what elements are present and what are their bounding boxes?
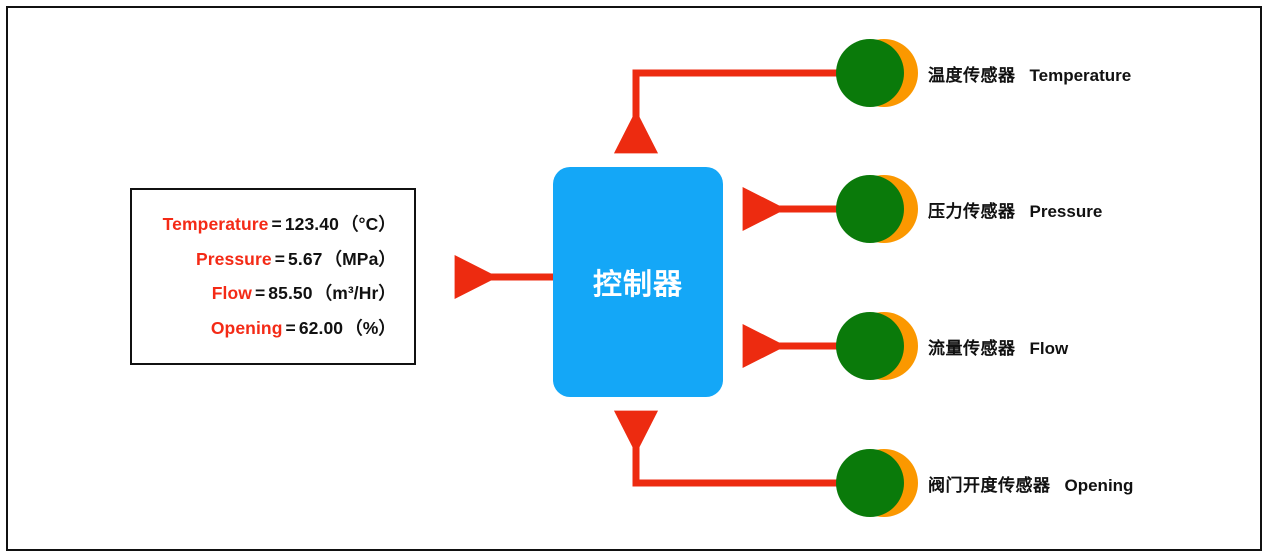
sensor-flow-label-cn: 流量传感器: [928, 334, 1016, 359]
controller-node[interactable]: 控制器: [553, 167, 723, 397]
sensor-disc-icon: [836, 447, 916, 519]
sensor-pressure-label-cn: 压力传感器: [928, 197, 1016, 222]
sensor-flow-label-en: Flow: [1030, 339, 1069, 359]
readout-panel: Temperature=123.40（°C） Pressure=5.67（MPa…: [130, 188, 416, 365]
readout-row-flow: Flow=85.50（m³/Hr）: [212, 285, 396, 303]
sensor-temperature[interactable]: 温度传感器 Temperature: [836, 37, 1131, 109]
readout-eq-pressure: =: [275, 249, 285, 269]
readout-unit-pressure: （MPa）: [325, 249, 396, 269]
controller-label: 控制器: [593, 261, 683, 303]
wire-opening: [636, 412, 845, 483]
sensor-pressure-label-en: Pressure: [1030, 202, 1103, 222]
readout-row-pressure: Pressure=5.67（MPa）: [196, 251, 396, 269]
sensor-opening-label: 阀门开度传感器 Opening: [928, 471, 1133, 496]
readout-unit-flow: （m³/Hr）: [315, 283, 396, 303]
sensor-flow-label: 流量传感器 Flow: [928, 334, 1068, 359]
readout-row-temperature: Temperature=123.40（°C）: [163, 216, 396, 234]
sensor-disc-icon: [836, 310, 916, 382]
sensor-opening-label-en: Opening: [1065, 476, 1134, 496]
sensor-opening-label-cn: 阀门开度传感器: [928, 471, 1051, 496]
readout-eq-temperature: =: [271, 214, 281, 234]
readout-value-temperature: 123.40: [285, 214, 339, 234]
sensor-flow[interactable]: 流量传感器 Flow: [836, 310, 1068, 382]
diagram-canvas: Temperature=123.40（°C） Pressure=5.67（MPa…: [0, 0, 1268, 557]
sensor-pressure-label: 压力传感器 Pressure: [928, 197, 1102, 222]
readout-eq-opening: =: [286, 318, 296, 338]
readout-unit-temperature: （°C）: [341, 214, 396, 234]
readout-label-flow: Flow: [212, 283, 252, 303]
readout-value-flow: 85.50: [268, 283, 312, 303]
sensor-disc-icon: [836, 173, 916, 245]
readout-row-opening: Opening=62.00（%）: [211, 320, 396, 338]
sensor-disc-icon: [836, 37, 916, 109]
readout-label-temperature: Temperature: [163, 214, 269, 234]
readout-label-opening: Opening: [211, 318, 283, 338]
sensor-temperature-label: 温度传感器 Temperature: [928, 61, 1131, 86]
readout-eq-flow: =: [255, 283, 265, 303]
readout-unit-opening: （%）: [345, 318, 396, 338]
sensor-temperature-label-cn: 温度传感器: [928, 61, 1016, 86]
readout-label-pressure: Pressure: [196, 249, 272, 269]
sensor-opening[interactable]: 阀门开度传感器 Opening: [836, 447, 1133, 519]
readout-value-pressure: 5.67: [288, 249, 322, 269]
wire-temperature: [636, 73, 845, 152]
sensor-pressure[interactable]: 压力传感器 Pressure: [836, 173, 1102, 245]
sensor-temperature-label-en: Temperature: [1030, 66, 1132, 86]
readout-value-opening: 62.00: [299, 318, 343, 338]
